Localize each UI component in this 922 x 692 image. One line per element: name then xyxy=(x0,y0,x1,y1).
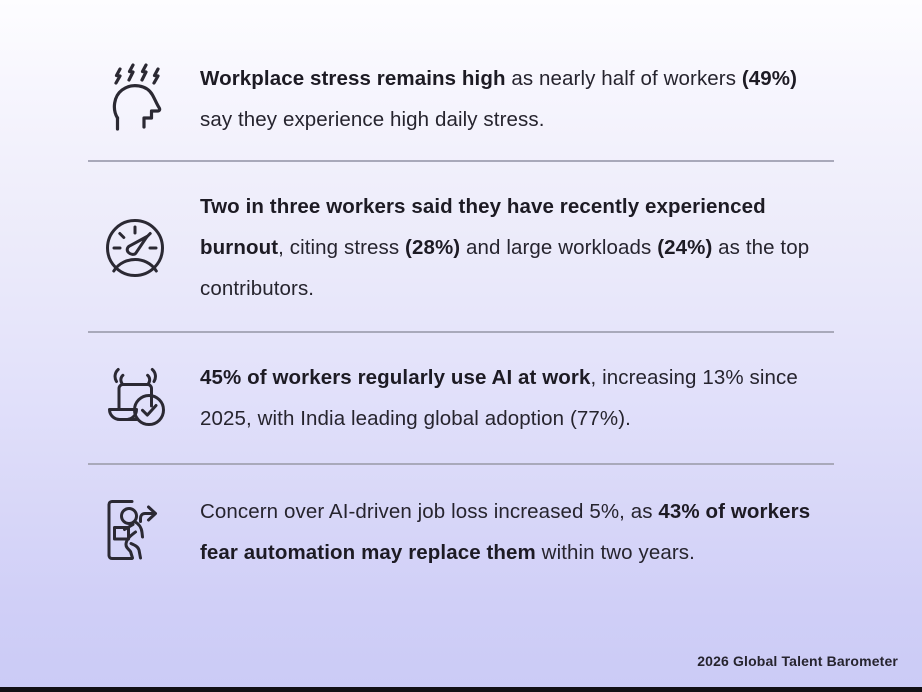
burnout-gauge-icon xyxy=(88,215,200,281)
stat-emphasis: Workplace stress remains high xyxy=(200,67,506,90)
stat-emphasis: (24%) xyxy=(657,236,712,259)
stat-text-cell: 45% of workers regularly use AI at work,… xyxy=(200,357,834,439)
stat-text-ai-usage: 45% of workers regularly use AI at work,… xyxy=(200,357,828,439)
stat-plain: as nearly half of workers xyxy=(506,67,742,90)
job-loss-exit-door-icon xyxy=(88,497,200,567)
stat-text-burnout: Two in three workers said they have rece… xyxy=(200,186,828,309)
stat-emphasis: (28%) xyxy=(405,236,460,259)
stat-plain: and large workloads xyxy=(460,236,657,259)
stat-text-job-loss: Concern over AI-driven job loss increase… xyxy=(200,491,828,573)
stat-row-ai-usage: 45% of workers regularly use AI at work,… xyxy=(88,333,834,463)
stressed-head-icon xyxy=(88,63,200,135)
stat-text-cell: Workplace stress remains high as nearly … xyxy=(200,58,834,140)
stat-list: Workplace stress remains high as nearly … xyxy=(88,40,834,593)
stat-row-burnout: Two in three workers said they have rece… xyxy=(88,162,834,331)
stat-emphasis: (49%) xyxy=(742,67,797,90)
footer-source-label: 2026 Global Talent Barometer xyxy=(697,653,898,669)
slide-canvas: Workplace stress remains high as nearly … xyxy=(0,0,922,692)
stat-emphasis: 45% of workers regularly use AI at work xyxy=(200,366,591,389)
stat-text-cell: Concern over AI-driven job loss increase… xyxy=(200,491,834,573)
stat-plain: , citing stress xyxy=(278,236,405,259)
stat-row-workplace-stress: Workplace stress remains high as nearly … xyxy=(88,40,834,160)
stat-plain: within two years. xyxy=(536,541,695,564)
stat-text-cell: Two in three workers said they have rece… xyxy=(200,186,834,309)
stat-plain: say they experience high daily stress. xyxy=(200,108,545,131)
laptop-ai-check-icon xyxy=(88,365,200,431)
stat-row-job-loss: Concern over AI-driven job loss increase… xyxy=(88,465,834,593)
stat-plain: Concern over AI-driven job loss increase… xyxy=(200,500,658,523)
stat-text-workplace-stress: Workplace stress remains high as nearly … xyxy=(200,58,828,140)
